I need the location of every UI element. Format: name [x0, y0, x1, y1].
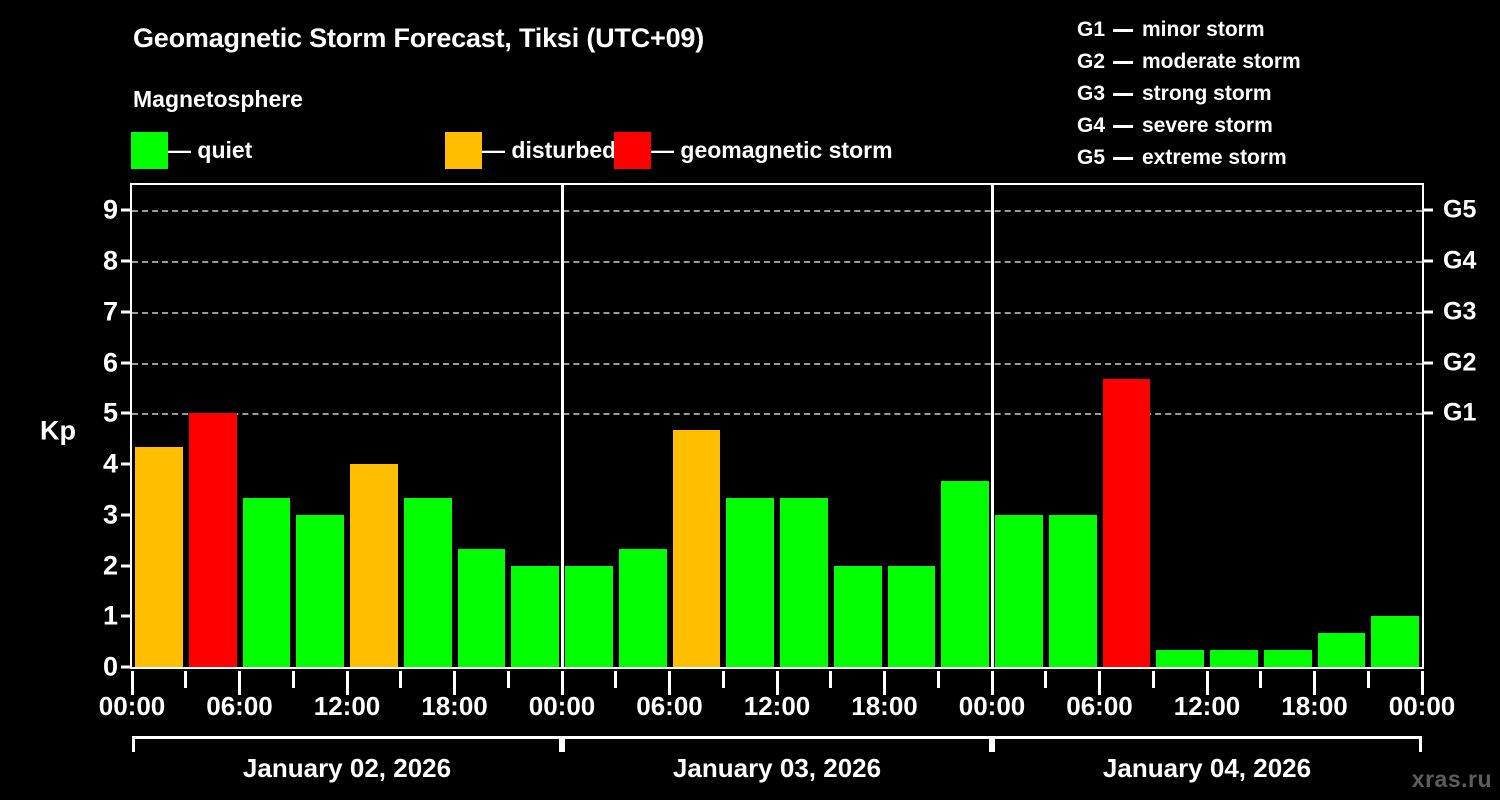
g-tick-label-g5: G5 [1443, 196, 1500, 225]
g-scale-desc-g3: strong storm [1142, 82, 1272, 106]
bar-15[interactable] [941, 481, 989, 667]
bar-12[interactable] [780, 498, 828, 667]
y-tick-label-0: 0 [78, 652, 118, 683]
day-label-1: January 03, 2026 [673, 753, 881, 784]
legend-label-0: — quiet [168, 139, 252, 162]
watermark: xras.ru [1412, 766, 1492, 793]
bar-23[interactable] [1371, 616, 1419, 667]
bar-1[interactable] [189, 413, 237, 667]
gridline-kp-9 [132, 210, 1422, 212]
gridline-kp-6 [132, 363, 1422, 365]
x-tick-23 [1367, 671, 1370, 688]
bar-5[interactable] [404, 498, 452, 667]
x-tick-17 [1044, 671, 1047, 688]
gridline-kp-8 [132, 261, 1422, 263]
y-tick-label-2: 2 [78, 550, 118, 581]
em-dash-icon [1113, 157, 1133, 160]
g-scale-desc-g5: extreme storm [1142, 146, 1287, 170]
y-tick-label-4: 4 [78, 449, 118, 480]
page-title: Geomagnetic Storm Forecast, Tiksi (UTC+0… [133, 23, 704, 54]
em-dash-icon [1113, 93, 1133, 96]
day-label-2: January 04, 2026 [1103, 753, 1311, 784]
g-tick-label-g4: G4 [1443, 247, 1500, 276]
x-tick-label-11: 18:00 [1281, 691, 1348, 722]
gridline-kp-7 [132, 312, 1422, 314]
day-divider-2 [991, 185, 994, 667]
y-tick-label-5: 5 [78, 398, 118, 429]
g-tick-label-g3: G3 [1443, 297, 1500, 326]
day-bracket-2 [992, 736, 1422, 752]
bar-0[interactable] [135, 447, 183, 667]
g-scale-code-g3: G3 [1077, 82, 1111, 106]
chart-subtitle: Magnetosphere [133, 86, 303, 113]
bar-11[interactable] [726, 498, 774, 667]
bar-22[interactable] [1318, 633, 1366, 667]
disturbed-swatch [445, 132, 482, 169]
bar-6[interactable] [458, 549, 506, 667]
g-scale-code-g4: G4 [1077, 114, 1111, 138]
x-tick-21 [1259, 671, 1262, 688]
x-tick-label-2: 12:00 [314, 691, 381, 722]
y-tick-label-1: 1 [78, 601, 118, 632]
x-tick-label-12: 00:00 [1389, 691, 1456, 722]
legend-item-0[interactable]: — quiet [131, 131, 252, 169]
bar-18[interactable] [1103, 379, 1151, 667]
g-scale-row-g1: G1minor storm [1077, 14, 1301, 46]
bar-14[interactable] [888, 566, 936, 667]
x-tick-label-10: 12:00 [1174, 691, 1241, 722]
x-tick-13 [829, 671, 832, 688]
x-tick-15 [937, 671, 940, 688]
x-tick-1 [184, 671, 187, 688]
bar-8[interactable] [565, 566, 613, 667]
bar-16[interactable] [995, 515, 1043, 667]
x-tick-19 [1152, 671, 1155, 688]
g-scale-row-g2: G2moderate storm [1077, 46, 1301, 78]
legend-label-1: — disturbed [482, 139, 616, 162]
x-tick-9 [614, 671, 617, 688]
g-scale-desc-g4: severe storm [1142, 114, 1273, 138]
bar-7[interactable] [511, 566, 559, 667]
x-tick-label-0: 00:00 [99, 691, 166, 722]
x-tick-label-7: 18:00 [851, 691, 918, 722]
x-tick-5 [399, 671, 402, 688]
x-tick-11 [722, 671, 725, 688]
em-dash-icon [1113, 125, 1133, 128]
bar-17[interactable] [1049, 515, 1097, 667]
x-tick-label-5: 06:00 [636, 691, 703, 722]
legend-item-1[interactable]: — disturbed [445, 131, 616, 169]
y-tick-label-6: 6 [78, 347, 118, 378]
g-scale-code-g2: G2 [1077, 50, 1111, 74]
bar-10[interactable] [673, 430, 721, 667]
g-scale-row-g4: G4severe storm [1077, 110, 1301, 142]
g-scale-row-g3: G3strong storm [1077, 78, 1301, 110]
bar-19[interactable] [1156, 650, 1204, 667]
day-label-0: January 02, 2026 [243, 753, 451, 784]
g-tick-label-g1: G1 [1443, 399, 1500, 428]
legend-item-2[interactable]: — geomagnetic storm [614, 131, 893, 169]
bar-4[interactable] [350, 464, 398, 667]
g-scale-code-g1: G1 [1077, 18, 1111, 42]
x-tick-3 [292, 671, 295, 688]
g-scale-row-g5: G5extreme storm [1077, 142, 1301, 174]
plot-area [130, 183, 1424, 669]
x-tick-label-9: 06:00 [1066, 691, 1133, 722]
x-tick-label-4: 00:00 [529, 691, 596, 722]
em-dash-icon [1113, 29, 1133, 32]
bar-2[interactable] [243, 498, 291, 667]
y-tick-label-3: 3 [78, 499, 118, 530]
legend-label-2: — geomagnetic storm [651, 139, 893, 162]
g-tick-label-g2: G2 [1443, 348, 1500, 377]
y-tick-label-7: 7 [78, 296, 118, 327]
x-tick-label-3: 18:00 [421, 691, 488, 722]
x-tick-label-8: 00:00 [959, 691, 1026, 722]
gridline-kp-5 [132, 413, 1422, 415]
x-tick-label-1: 06:00 [206, 691, 273, 722]
x-tick-7 [507, 671, 510, 688]
g-scale-desc-g1: minor storm [1142, 18, 1265, 42]
y-tick-label-8: 8 [78, 246, 118, 277]
bar-9[interactable] [619, 549, 667, 667]
em-dash-icon [1113, 61, 1133, 64]
y-tick-label-9: 9 [78, 195, 118, 226]
g-scale-legend: G1minor stormG2moderate stormG3strong st… [1077, 14, 1301, 174]
bar-20[interactable] [1210, 650, 1258, 667]
g-scale-desc-g2: moderate storm [1142, 50, 1301, 74]
day-bracket-0 [132, 736, 562, 752]
quiet-swatch [131, 132, 168, 169]
bar-21[interactable] [1264, 650, 1312, 667]
g-scale-code-g5: G5 [1077, 146, 1111, 170]
day-bracket-1 [562, 736, 992, 752]
chart-root: Geomagnetic Storm Forecast, Tiksi (UTC+0… [0, 0, 1500, 800]
x-tick-label-6: 12:00 [744, 691, 811, 722]
day-divider-1 [561, 185, 564, 667]
bar-13[interactable] [834, 566, 882, 667]
y-axis-title: Kp [40, 416, 76, 447]
storm-swatch [614, 132, 651, 169]
bar-3[interactable] [296, 515, 344, 667]
